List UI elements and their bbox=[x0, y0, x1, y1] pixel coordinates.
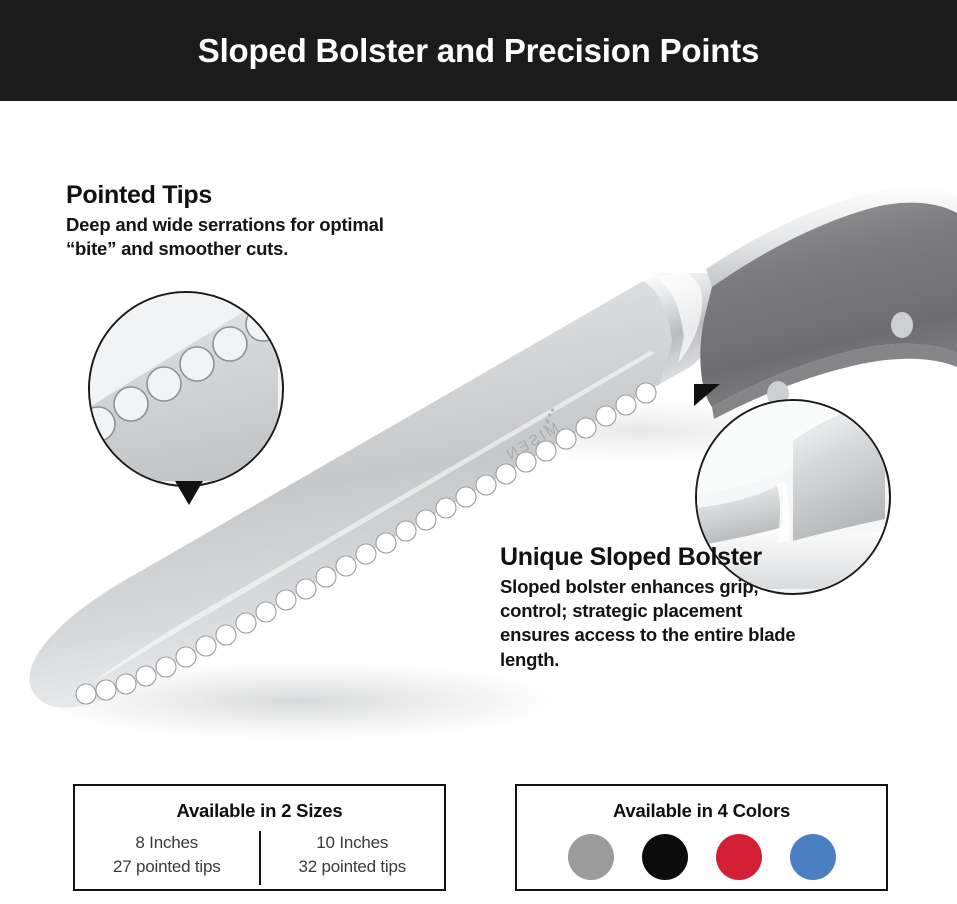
available-colors-box: Available in 4 Colors bbox=[515, 784, 888, 891]
size-option-8in: 8 Inches 27 pointed tips bbox=[75, 831, 259, 889]
page-title: Sloped Bolster and Precision Points bbox=[0, 0, 957, 101]
color-swatch-row bbox=[517, 834, 886, 880]
color-swatch-gray[interactable] bbox=[568, 834, 614, 880]
callout-sloped-bolster-heading: Unique Sloped Bolster bbox=[500, 543, 800, 573]
handle-rivet bbox=[891, 312, 913, 338]
size-option-10in-size: 10 Inches bbox=[261, 831, 445, 855]
callout-pointed-tips: Pointed Tips Deep and wide serrations fo… bbox=[66, 181, 396, 261]
callout-sloped-bolster: Unique Sloped Bolster Sloped bolster enh… bbox=[500, 543, 800, 672]
triangle-down-pointer-icon bbox=[175, 481, 203, 505]
callout-pointed-tips-heading: Pointed Tips bbox=[66, 181, 396, 211]
color-swatch-blue[interactable] bbox=[790, 834, 836, 880]
size-option-10in: 10 Inches 32 pointed tips bbox=[261, 831, 445, 889]
knife-bolster bbox=[643, 271, 724, 384]
available-colors-title: Available in 4 Colors bbox=[517, 800, 886, 822]
color-swatch-red[interactable] bbox=[716, 834, 762, 880]
brand-etching: MISEN bbox=[496, 408, 567, 465]
callout-sloped-bolster-body: Sloped bolster enhances grip, control; s… bbox=[500, 575, 800, 673]
size-options: 8 Inches 27 pointed tips 10 Inches 32 po… bbox=[75, 831, 444, 889]
infographic-page: Sloped Bolster and Precision Points bbox=[0, 0, 957, 904]
size-option-8in-size: 8 Inches bbox=[75, 831, 259, 855]
magnifier-tips-art bbox=[90, 293, 278, 481]
size-option-8in-tips: 27 pointed tips bbox=[75, 855, 259, 879]
triangle-up-left-pointer-icon bbox=[694, 384, 720, 406]
color-swatch-black[interactable] bbox=[642, 834, 688, 880]
size-option-10in-tips: 32 pointed tips bbox=[261, 855, 445, 879]
magnifier-pointed-tips bbox=[88, 291, 284, 487]
svg-text:MISEN: MISEN bbox=[502, 420, 562, 465]
callout-pointed-tips-body: Deep and wide serrations for optimal “bi… bbox=[66, 213, 396, 262]
available-sizes-box: Available in 2 Sizes 8 Inches 27 pointed… bbox=[73, 784, 446, 891]
blade-serrations bbox=[311, 612, 344, 645]
knife-handle bbox=[700, 188, 957, 419]
available-sizes-title: Available in 2 Sizes bbox=[75, 800, 444, 822]
